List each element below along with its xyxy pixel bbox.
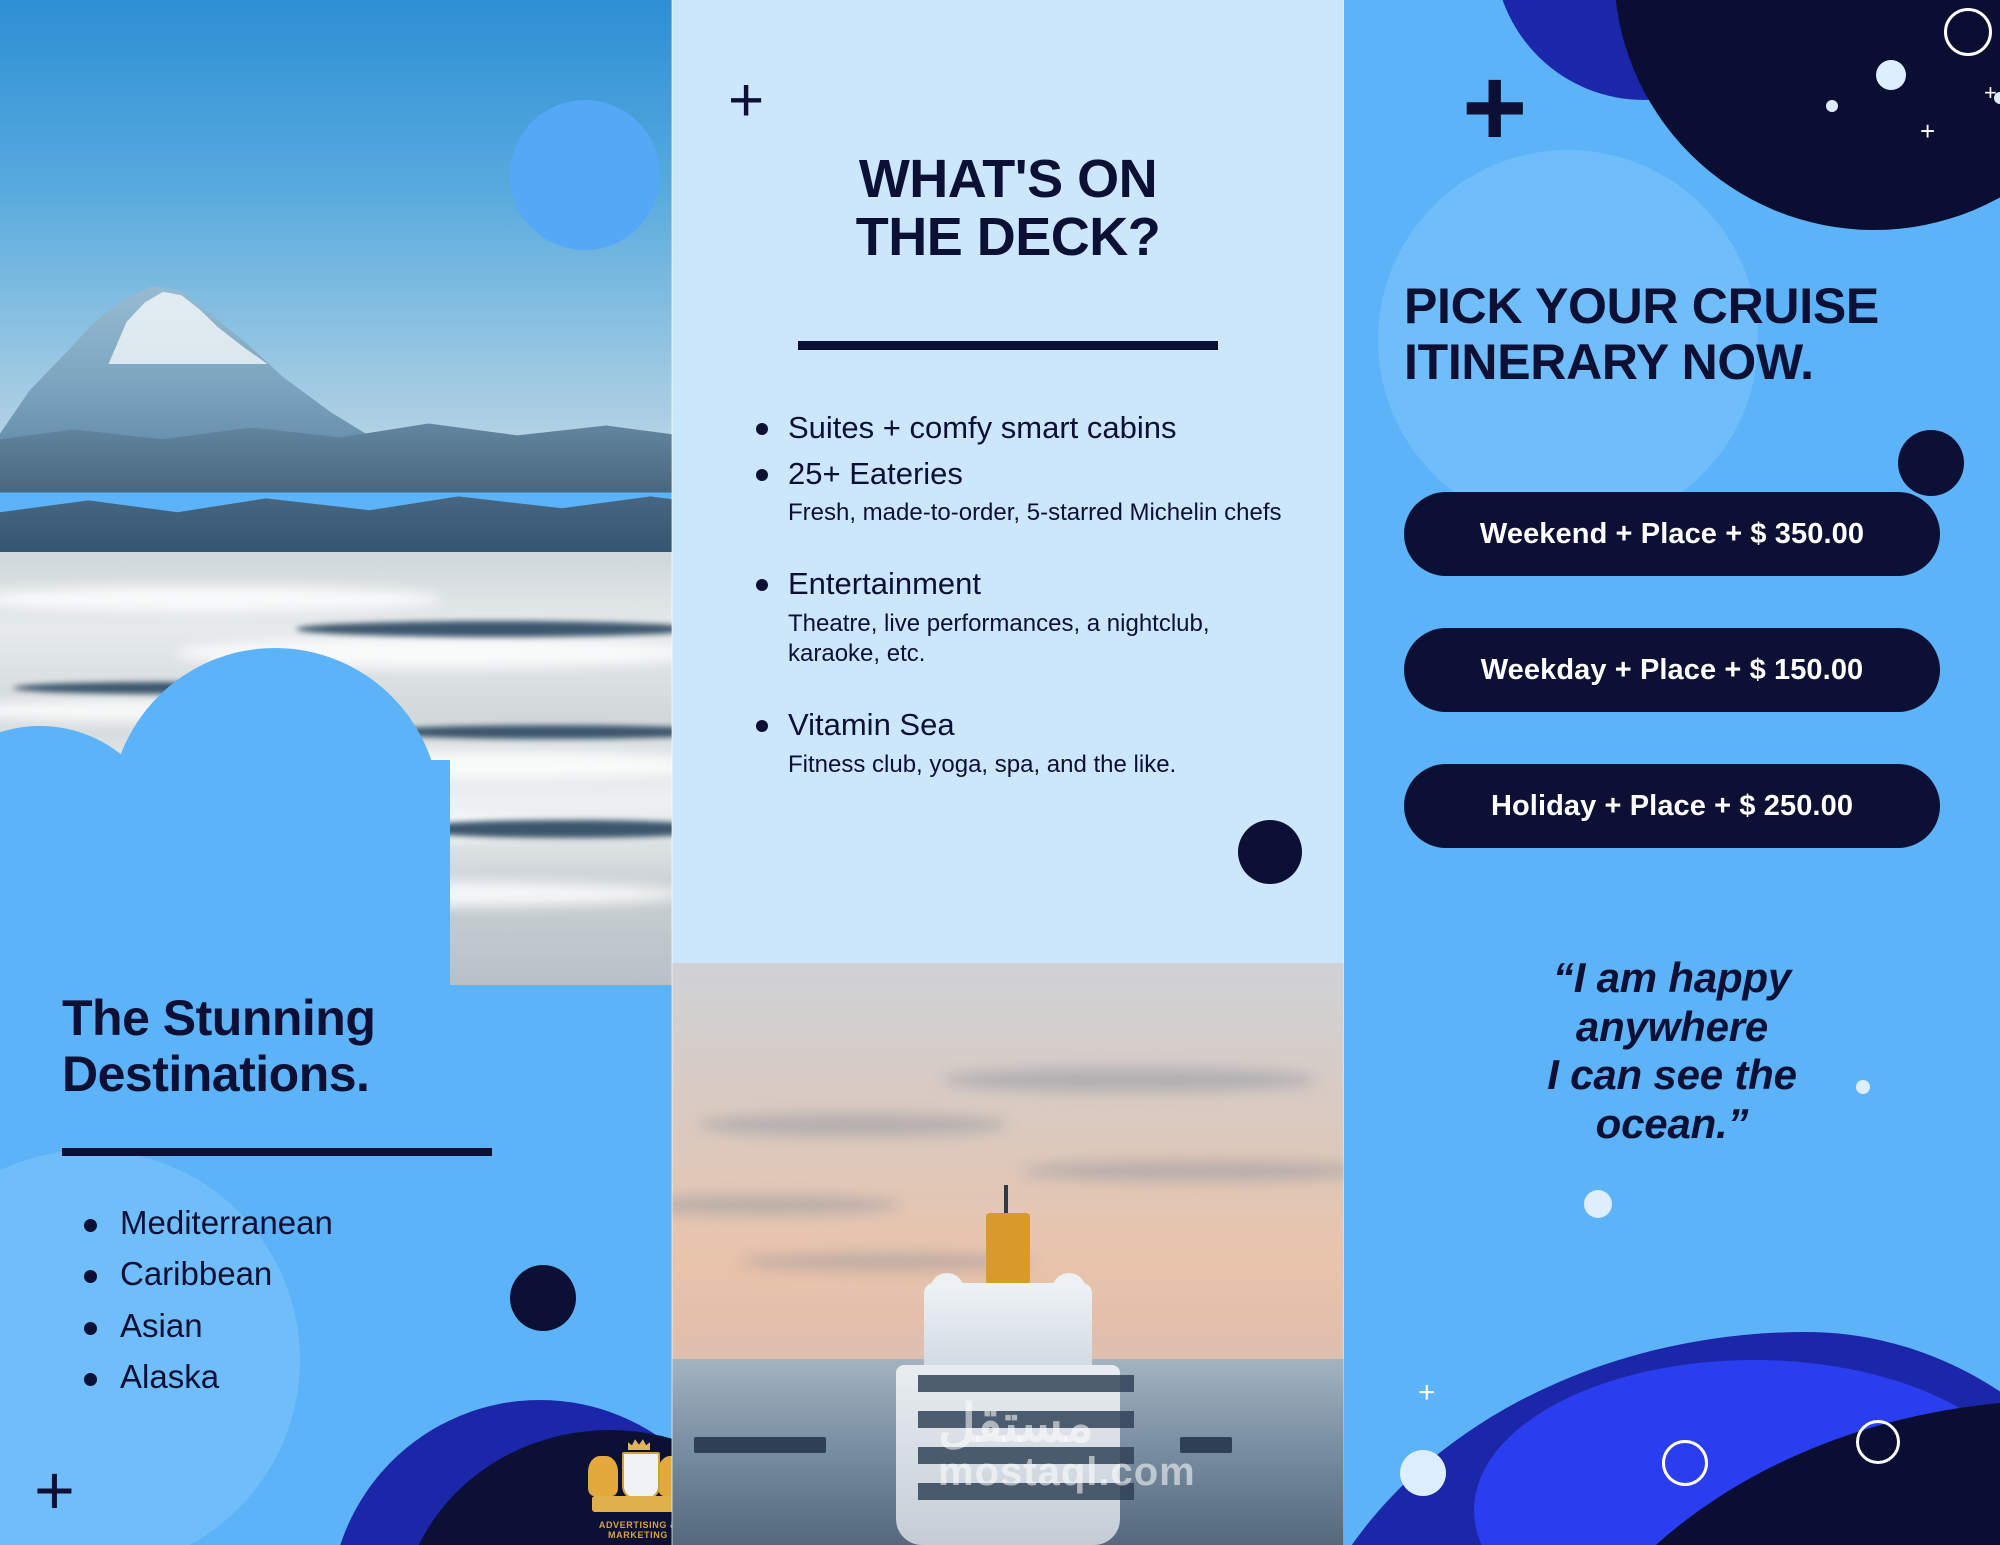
logo-caption: ADVERTISING & MARKETING <box>574 1520 672 1540</box>
decorative-dot-navy-right <box>1898 430 1964 496</box>
destinations-heading-line2: Destinations. <box>62 1046 369 1102</box>
ship-superstructure <box>924 1283 1092 1375</box>
ocean-quote: “I am happy anywhere I can see the ocean… <box>1404 954 1940 1149</box>
feature-description: Theatre, live performances, a nightclub,… <box>756 609 1288 669</box>
deck-features-list: Suites + comfy smart cabins 25+ Eateries… <box>672 408 1344 780</box>
decorative-sparkle <box>1400 1450 1446 1496</box>
deck-section-header: WHAT'S ON THE DECK? <box>672 0 1344 350</box>
panel-left: The Stunning Destinations. Mediterranean… <box>0 0 672 1545</box>
destinations-list: Mediterranean Caribbean Asian Alaska <box>62 1202 610 1397</box>
destinations-heading-line1: The Stunning <box>62 990 375 1046</box>
list-item[interactable]: Asian <box>62 1305 610 1346</box>
decorative-sparkle <box>1584 1190 1612 1218</box>
panel-right: + + PICK YOUR CRUISE ITINERARY NOW. Week… <box>1344 0 2000 1545</box>
itinerary-section: PICK YOUR CRUISE ITINERARY NOW. Weekend … <box>1344 0 2000 1149</box>
pricing-option-weekend[interactable]: Weekend + Place + $ 350.00 <box>1404 492 1940 576</box>
plus-icon: + <box>34 1455 75 1525</box>
deck-heading-line1: WHAT'S ON <box>859 149 1157 209</box>
deck-heading: WHAT'S ON THE DECK? <box>732 150 1284 267</box>
feature-title: 25+ Eateries <box>756 454 1288 494</box>
cruise-ship <box>878 1215 1138 1545</box>
decorative-sparkle <box>1856 1080 1870 1094</box>
quote-line-1: “I am happy <box>1553 954 1791 1001</box>
crown-icon <box>628 1438 650 1450</box>
list-item[interactable]: Mediterranean <box>62 1202 610 1243</box>
plus-icon: + <box>728 70 764 132</box>
spacer <box>756 675 1288 699</box>
lion-right-icon <box>658 1456 672 1496</box>
list-item[interactable]: 25+ Eateries Fresh, made-to-order, 5-sta… <box>756 454 1288 529</box>
background-tanker <box>1180 1437 1232 1453</box>
brochure-page: The Stunning Destinations. Mediterranean… <box>0 0 2000 1545</box>
plus-icon-white: + <box>1418 1378 1436 1408</box>
ribbon-icon <box>592 1496 672 1512</box>
decorative-circle-top <box>510 100 660 250</box>
feature-title: Vitamin Sea <box>756 705 1288 745</box>
lion-left-icon <box>588 1456 618 1496</box>
list-item[interactable]: Caribbean <box>62 1253 610 1294</box>
ship-hull <box>896 1365 1120 1545</box>
quote-line-3: I can see the <box>1547 1051 1797 1098</box>
panel-seam-left <box>671 0 673 1545</box>
list-item[interactable]: Vitamin Sea Fitness club, yoga, spa, and… <box>756 705 1288 780</box>
company-logo: ADVERTISING & MARKETING <box>578 1440 672 1540</box>
decorative-ring <box>1662 1440 1708 1486</box>
feature-description: Fitness club, yoga, spa, and the like. <box>756 750 1288 780</box>
ship-funnel <box>986 1213 1030 1287</box>
destinations-heading: The Stunning Destinations. <box>62 990 610 1102</box>
pricing-option-weekday[interactable]: Weekday + Place + $ 150.00 <box>1404 628 1940 712</box>
list-item[interactable]: Suites + comfy smart cabins <box>756 408 1288 448</box>
spacer <box>756 534 1288 558</box>
shield-icon <box>622 1452 660 1500</box>
list-item[interactable]: Entertainment Theatre, live performances… <box>756 564 1288 669</box>
quote-line-4: ocean.” <box>1596 1100 1749 1147</box>
decorative-dot-navy-middle <box>1238 820 1302 884</box>
plus-icon: + <box>1462 52 1527 164</box>
itinerary-heading: PICK YOUR CRUISE ITINERARY NOW. <box>1404 278 1940 390</box>
quote-line-2: anywhere <box>1576 1003 1768 1050</box>
deck-divider <box>798 341 1218 350</box>
deck-heading-line2: THE DECK? <box>856 207 1161 267</box>
decorative-ring <box>1856 1420 1900 1464</box>
feature-description: Fresh, made-to-order, 5-starred Michelin… <box>756 498 1288 528</box>
feature-title: Suites + comfy smart cabins <box>756 408 1288 448</box>
destinations-divider <box>62 1148 492 1156</box>
feature-title: Entertainment <box>756 564 1288 604</box>
destinations-section: The Stunning Destinations. Mediterranean… <box>0 990 672 1407</box>
background-tanker <box>694 1437 826 1453</box>
list-item[interactable]: Alaska <box>62 1356 610 1397</box>
pricing-option-holiday[interactable]: Holiday + Place + $ 250.00 <box>1404 764 1940 848</box>
cruise-ship-photo <box>672 963 1344 1545</box>
